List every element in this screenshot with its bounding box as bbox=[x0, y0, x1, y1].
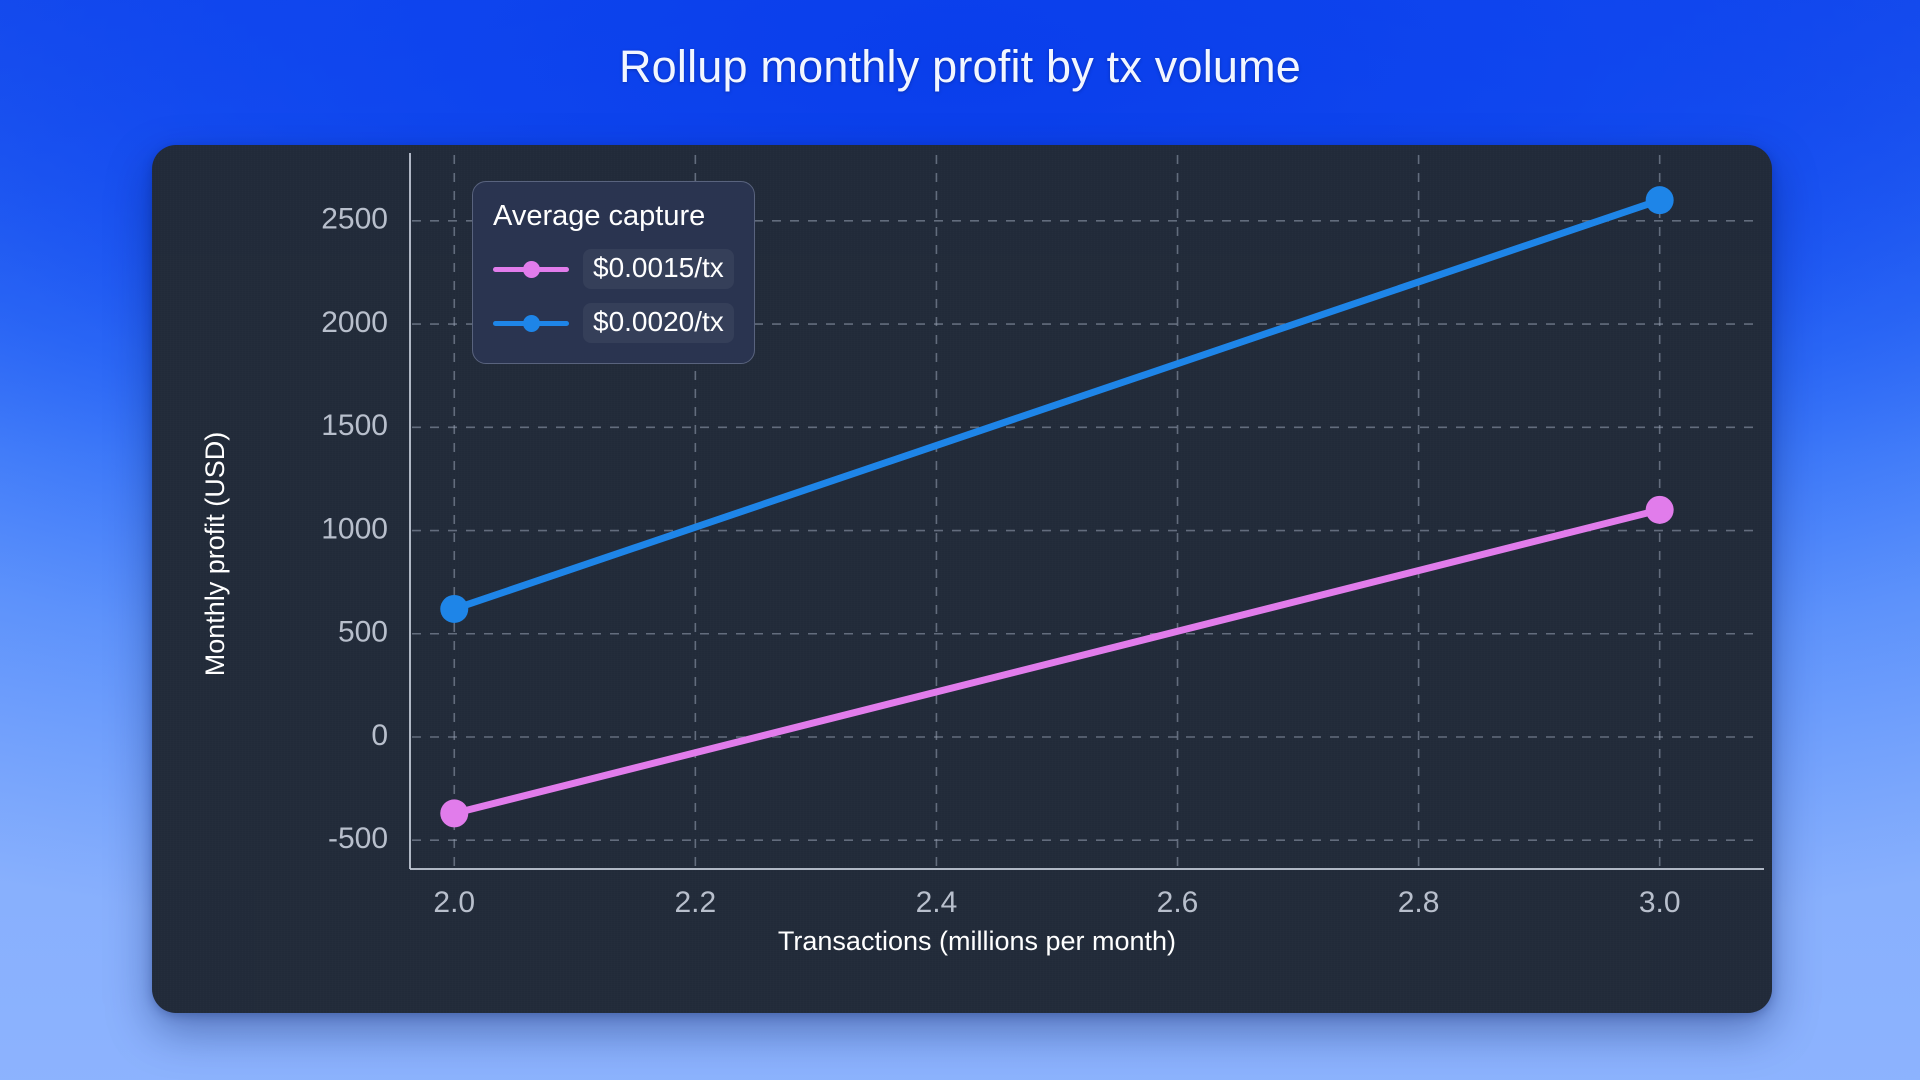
legend-item-1[interactable]: $0.0020/tx bbox=[493, 303, 734, 343]
x-axis-tick-labels: 2.02.22.42.62.83.0 bbox=[433, 886, 1680, 919]
y-axis-title: Monthly profit (USD) bbox=[200, 432, 230, 677]
legend-item-0[interactable]: $0.0015/tx bbox=[493, 249, 734, 289]
legend-line-marker-icon-1 bbox=[493, 311, 569, 335]
page-title: Rollup monthly profit by tx volume bbox=[0, 40, 1920, 94]
legend-title: Average capture bbox=[493, 200, 734, 233]
data-point-marker[interactable] bbox=[1646, 186, 1674, 214]
x-tick-label: 2.0 bbox=[433, 886, 475, 919]
y-axis-tick-labels: -50005001000150020002500 bbox=[321, 203, 388, 855]
y-tick-label: 0 bbox=[371, 719, 388, 752]
x-tick-label: 2.4 bbox=[916, 886, 958, 919]
y-tick-label: -500 bbox=[328, 822, 388, 855]
chart-card: -50005001000150020002500 2.02.22.42.62.8… bbox=[152, 145, 1772, 1013]
x-tick-label: 3.0 bbox=[1639, 886, 1681, 919]
legend-line-marker-icon-0 bbox=[493, 257, 569, 281]
data-point-marker[interactable] bbox=[440, 595, 468, 623]
x-tick-label: 2.6 bbox=[1157, 886, 1199, 919]
legend-label-0: $0.0015/tx bbox=[583, 249, 734, 289]
y-tick-label: 1500 bbox=[321, 409, 388, 442]
x-axis-title: Transactions (millions per month) bbox=[778, 926, 1176, 956]
x-tick-label: 2.2 bbox=[674, 886, 716, 919]
x-tick-label: 2.8 bbox=[1398, 886, 1440, 919]
y-tick-label: 500 bbox=[338, 616, 388, 649]
data-point-marker[interactable] bbox=[1646, 496, 1674, 524]
y-tick-label: 1000 bbox=[321, 512, 388, 545]
chart-legend[interactable]: Average capture $0.0015/tx $0.0020/tx bbox=[472, 181, 755, 364]
y-tick-label: 2500 bbox=[321, 203, 388, 236]
legend-label-1: $0.0020/tx bbox=[583, 303, 734, 343]
data-point-marker[interactable] bbox=[440, 799, 468, 827]
y-tick-label: 2000 bbox=[321, 306, 388, 339]
line-chart-plot: -50005001000150020002500 2.02.22.42.62.8… bbox=[152, 145, 1772, 1013]
series-line-0 bbox=[454, 510, 1659, 814]
